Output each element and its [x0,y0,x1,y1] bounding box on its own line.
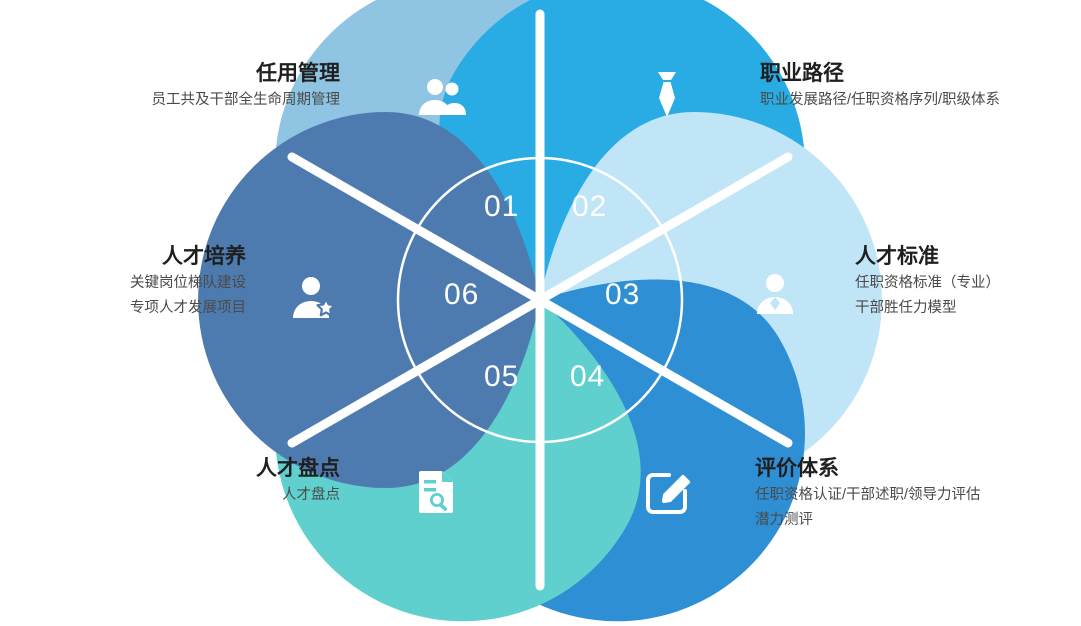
label-01-title: 任用管理 [30,60,340,88]
label-03-title: 人才标准 [855,243,1081,271]
label-01-sub-1: 员工共及干部全生命周期管理 [30,88,340,113]
label-01: 任用管理 员工共及干部全生命周期管理 [30,60,340,113]
users-icon [415,72,469,126]
label-06: 人才培养 关键岗位梯队建设 专项人才发展项目 [30,243,246,321]
label-05: 人才盘点 人才盘点 [30,455,340,508]
label-03-sub-1: 任职资格标准（专业） [855,271,1081,296]
label-04-title: 评价体系 [755,455,1081,483]
petal-number-06: 06 [444,278,479,312]
petal-number-01: 01 [484,190,519,224]
label-04: 评价体系 任职资格认证/干部述职/领导力评估 潜力测评 [755,455,1081,533]
necktie-icon [640,66,694,120]
label-02-title: 职业路径 [760,60,1080,88]
petal-number-02: 02 [572,190,607,224]
label-04-sub-1: 任职资格认证/干部述职/领导力评估 [755,483,1081,508]
talent-management-flower-diagram: 01 02 03 04 05 06 [0,0,1081,626]
label-05-sub-1: 人才盘点 [30,483,340,508]
petal-number-03: 03 [605,278,640,312]
label-02: 职业路径 职业发展路径/任职资格序列/职级体系 [760,60,1080,113]
label-06-sub-2: 专项人才发展项目 [30,296,246,321]
label-03: 人才标准 任职资格标准（专业） 干部胜任力模型 [855,243,1081,321]
person-star-icon [288,272,342,326]
label-04-sub-2: 潜力测评 [755,508,1081,533]
label-06-title: 人才培养 [30,243,246,271]
label-06-sub-1: 关键岗位梯队建设 [30,271,246,296]
petal-number-05: 05 [484,360,519,394]
label-02-sub-1: 职业发展路径/任职资格序列/职级体系 [760,88,1080,113]
petal-number-04: 04 [570,360,605,394]
edit-square-icon [640,464,694,518]
label-03-sub-2: 干部胜任力模型 [855,296,1081,321]
document-search-icon [410,464,464,518]
person-badge-icon [748,268,802,322]
label-05-title: 人才盘点 [30,455,340,483]
